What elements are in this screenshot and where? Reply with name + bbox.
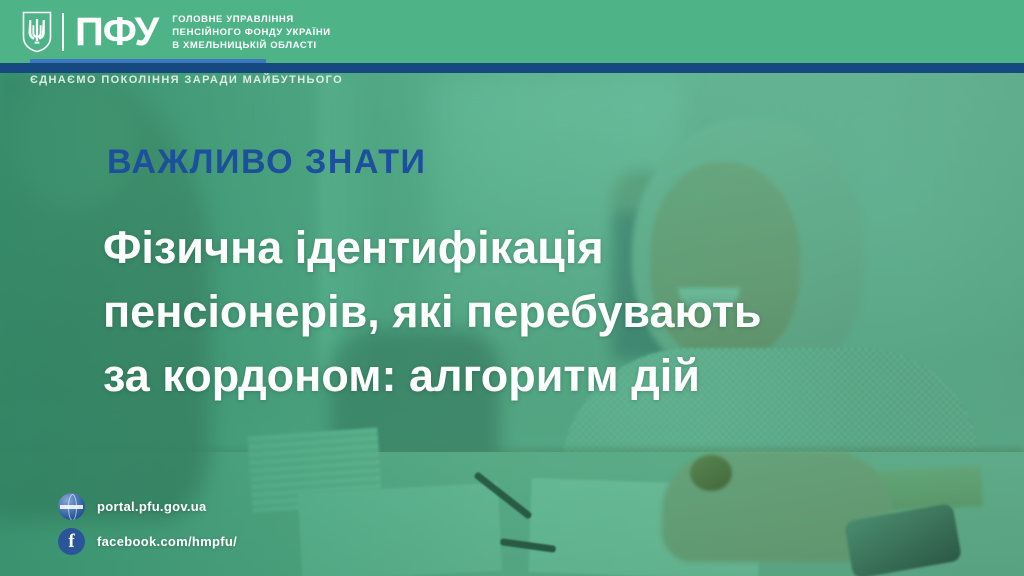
organization-name: ГОЛОВНЕ УПРАВЛІННЯ ПЕНСІЙНОГО ФОНДУ УКРА… <box>172 13 330 52</box>
logo-divider <box>62 13 64 51</box>
ukraine-trident-icon <box>22 11 52 53</box>
kicker-label: ВАЖЛИВО ЗНАТИ <box>107 143 426 182</box>
website-link-label: portal.pfu.gov.ua <box>97 499 207 514</box>
facebook-link[interactable]: f facebook.com/hmpfu/ <box>58 524 237 559</box>
title-line-2: пенсіонерів, які перебувають <box>103 280 762 344</box>
organization-line-3: В ХМЕЛЬНИЦЬКІЙ ОБЛАСТІ <box>172 39 330 52</box>
footer-links: portal.pfu.gov.ua f facebook.com/hmpfu/ <box>58 489 237 559</box>
website-link[interactable]: portal.pfu.gov.ua <box>58 489 237 524</box>
facebook-link-label: facebook.com/hmpfu/ <box>97 534 237 549</box>
title-line-3: за кордоном: алгоритм дій <box>103 344 762 408</box>
organization-line-1: ГОЛОВНЕ УПРАВЛІННЯ <box>172 13 330 26</box>
tagline: ЄДНАЄМО ПОКОЛІННЯ ЗАРАДИ МАЙБУТНЬОГО <box>30 74 343 86</box>
organization-line-2: ПЕНСІЙНОГО ФОНДУ УКРАЇНИ <box>172 26 330 39</box>
brand-mark: ПФУ <box>75 11 158 53</box>
pfu-info-banner: ПФУ ГОЛОВНЕ УПРАВЛІННЯ ПЕНСІЙНОГО ФОНДУ … <box>0 0 1024 576</box>
globe-icon <box>58 493 85 520</box>
page-title: Фізична ідентифікація пенсіонерів, які п… <box>103 216 762 408</box>
logo-group: ПФУ ГОЛОВНЕ УПРАВЛІННЯ ПЕНСІЙНОГО ФОНДУ … <box>22 8 331 56</box>
header-bar: ПФУ ГОЛОВНЕ УПРАВЛІННЯ ПЕНСІЙНОГО ФОНДУ … <box>0 0 1024 63</box>
blue-divider-band <box>0 63 1024 73</box>
title-line-1: Фізична ідентифікація <box>103 216 762 280</box>
facebook-icon: f <box>58 528 85 555</box>
